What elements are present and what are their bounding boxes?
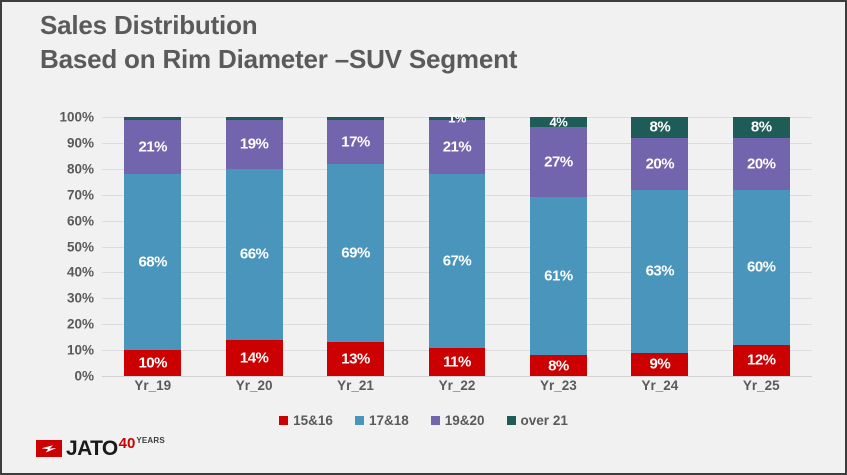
bar-segment[interactable]: 66% — [226, 169, 283, 340]
legend-label: 17&18 — [369, 413, 409, 428]
bar-group[interactable]: 8%61%27%4% — [530, 117, 587, 376]
bar-stack: 9%63%20%8% — [631, 117, 688, 376]
title-line-1: Sales Distribution — [40, 8, 800, 42]
legend-swatch-icon — [507, 416, 516, 425]
bar-segment[interactable]: 9% — [631, 353, 688, 376]
bar-segment-label: 21% — [429, 139, 486, 154]
bar-segment-label: 69% — [327, 245, 384, 260]
logo-anniversary-number: 40 — [119, 436, 136, 451]
bar-group[interactable]: 13%69%17% — [327, 117, 384, 376]
bar-segment-label: 14% — [226, 350, 283, 365]
bar-segment[interactable]: 21% — [124, 120, 181, 174]
bar-segment[interactable]: 4% — [530, 117, 587, 127]
bar-segment-label: 8% — [733, 120, 790, 135]
bar-group[interactable]: 9%63%20%8% — [631, 117, 688, 376]
x-axis-tick-label: Yr_24 — [609, 378, 710, 393]
chart-legend: 15&1617&1819&20over 21 — [2, 408, 845, 432]
legend-item[interactable]: 17&18 — [355, 413, 409, 428]
bar-segment-label: 61% — [530, 269, 587, 284]
bar-segment[interactable]: 19% — [226, 120, 283, 169]
x-axis-tick-label: Yr_21 — [305, 378, 406, 393]
legend-label: over 21 — [521, 413, 568, 428]
bar-group[interactable]: 10%68%21% — [124, 117, 181, 376]
bar-stack: 11%67%21%1% — [429, 117, 486, 376]
bar-segment[interactable]: 10% — [124, 350, 181, 376]
y-axis-tick-label: 60% — [32, 213, 94, 228]
bar-segment-label: 8% — [530, 358, 587, 373]
x-axis-tick-label: Yr_25 — [711, 378, 812, 393]
legend-swatch-icon — [431, 416, 440, 425]
bar-segment[interactable]: 8% — [631, 117, 688, 138]
y-axis-tick-label: 10% — [32, 343, 94, 358]
x-axis-tick-label: Yr_19 — [102, 378, 203, 393]
bar-segment[interactable]: 8% — [530, 355, 587, 376]
y-axis-tick-label: 90% — [32, 135, 94, 150]
bar-segment[interactable]: 1% — [429, 117, 486, 120]
page-title: Sales Distribution Based on Rim Diameter… — [40, 8, 800, 76]
bar-segment[interactable]: 61% — [530, 197, 587, 355]
bar-segment[interactable]: 17% — [327, 120, 384, 164]
bar-segment-label: 63% — [631, 264, 688, 279]
bar-segment-label: 60% — [733, 260, 790, 275]
legend-label: 15&16 — [293, 413, 333, 428]
bar-stack: 13%69%17% — [327, 117, 384, 376]
bar-segment[interactable]: 13% — [327, 342, 384, 376]
bar-segment-label: 1% — [429, 112, 486, 125]
bar-group[interactable]: 14%66%19% — [226, 117, 283, 376]
bar-segment[interactable] — [226, 117, 283, 120]
y-axis-tick-label: 100% — [32, 110, 94, 125]
bar-stack: 8%61%27%4% — [530, 117, 587, 376]
jato-bird-icon — [36, 440, 62, 457]
bar-segment-label: 20% — [733, 156, 790, 171]
jato-logo: JATO 40 YEARS — [36, 438, 165, 459]
bar-segment[interactable]: 27% — [530, 127, 587, 197]
y-axis-tick-label: 20% — [32, 317, 94, 332]
x-axis-tick-label: Yr_22 — [406, 378, 507, 393]
legend-item[interactable]: over 21 — [507, 413, 568, 428]
bar-segment[interactable]: 68% — [124, 174, 181, 350]
plot-area: 10%68%21%14%66%19%13%69%17%11%67%21%1%8%… — [102, 117, 812, 376]
bar-group[interactable]: 11%67%21%1% — [429, 117, 486, 376]
bar-segment[interactable]: 14% — [226, 340, 283, 376]
bar-segment-label: 9% — [631, 357, 688, 372]
bar-segment-label: 19% — [226, 137, 283, 152]
bar-segment-label: 66% — [226, 247, 283, 262]
bar-segment[interactable]: 12% — [733, 345, 790, 376]
bar-segment-label: 21% — [124, 139, 181, 154]
bar-segment-label: 27% — [530, 155, 587, 170]
bars-layer: 10%68%21%14%66%19%13%69%17%11%67%21%1%8%… — [102, 117, 812, 376]
y-axis-tick-label: 0% — [32, 369, 94, 384]
bar-segment[interactable] — [327, 117, 384, 120]
bar-segment-label: 11% — [429, 354, 486, 369]
bar-segment-label: 8% — [631, 120, 688, 135]
bar-segment[interactable] — [124, 117, 181, 120]
bar-segment[interactable]: 11% — [429, 348, 486, 376]
bar-segment-label: 10% — [124, 356, 181, 371]
bar-segment-label: 4% — [530, 116, 587, 129]
x-axis-tick-label: Yr_20 — [203, 378, 304, 393]
x-axis: Yr_19Yr_20Yr_21Yr_22Yr_23Yr_24Yr_25 — [102, 378, 812, 398]
slide-canvas: Sales Distribution Based on Rim Diameter… — [0, 0, 847, 475]
bar-stack: 10%68%21% — [124, 117, 181, 376]
bar-segment-label: 12% — [733, 353, 790, 368]
bar-segment-label: 68% — [124, 255, 181, 270]
x-axis-tick-label: Yr_23 — [508, 378, 609, 393]
gridline — [102, 376, 812, 377]
bar-segment[interactable]: 60% — [733, 190, 790, 345]
y-axis-tick-label: 40% — [32, 265, 94, 280]
y-axis-tick-label: 50% — [32, 239, 94, 254]
bar-stack: 14%66%19% — [226, 117, 283, 376]
legend-item[interactable]: 19&20 — [431, 413, 485, 428]
bar-segment[interactable]: 69% — [327, 164, 384, 343]
title-line-2: Based on Rim Diameter –SUV Segment — [40, 42, 800, 76]
logo-anniversary-word: YEARS — [136, 437, 165, 445]
bar-segment-label: 13% — [327, 352, 384, 367]
y-axis: 0%10%20%30%40%50%60%70%80%90%100% — [24, 117, 94, 376]
bar-stack: 12%60%20%8% — [733, 117, 790, 376]
legend-label: 19&20 — [445, 413, 485, 428]
bar-segment[interactable]: 63% — [631, 190, 688, 353]
legend-item[interactable]: 15&16 — [279, 413, 333, 428]
legend-swatch-icon — [279, 416, 288, 425]
legend-swatch-icon — [355, 416, 364, 425]
stacked-bar-chart: 0%10%20%30%40%50%60%70%80%90%100% 10%68%… — [24, 98, 824, 398]
bar-segment[interactable]: 20% — [631, 138, 688, 190]
y-axis-tick-label: 30% — [32, 291, 94, 306]
y-axis-tick-label: 80% — [32, 161, 94, 176]
bar-segment-label: 20% — [631, 156, 688, 171]
bar-segment[interactable]: 8% — [733, 117, 790, 138]
bar-segment-label: 17% — [327, 134, 384, 149]
bar-segment-label: 67% — [429, 253, 486, 268]
bar-segment[interactable]: 67% — [429, 174, 486, 348]
bar-segment[interactable]: 20% — [733, 138, 790, 190]
bar-group[interactable]: 12%60%20%8% — [733, 117, 790, 376]
bar-segment[interactable]: 21% — [429, 120, 486, 174]
y-axis-tick-label: 70% — [32, 187, 94, 202]
logo-wordmark: JATO — [66, 438, 118, 459]
